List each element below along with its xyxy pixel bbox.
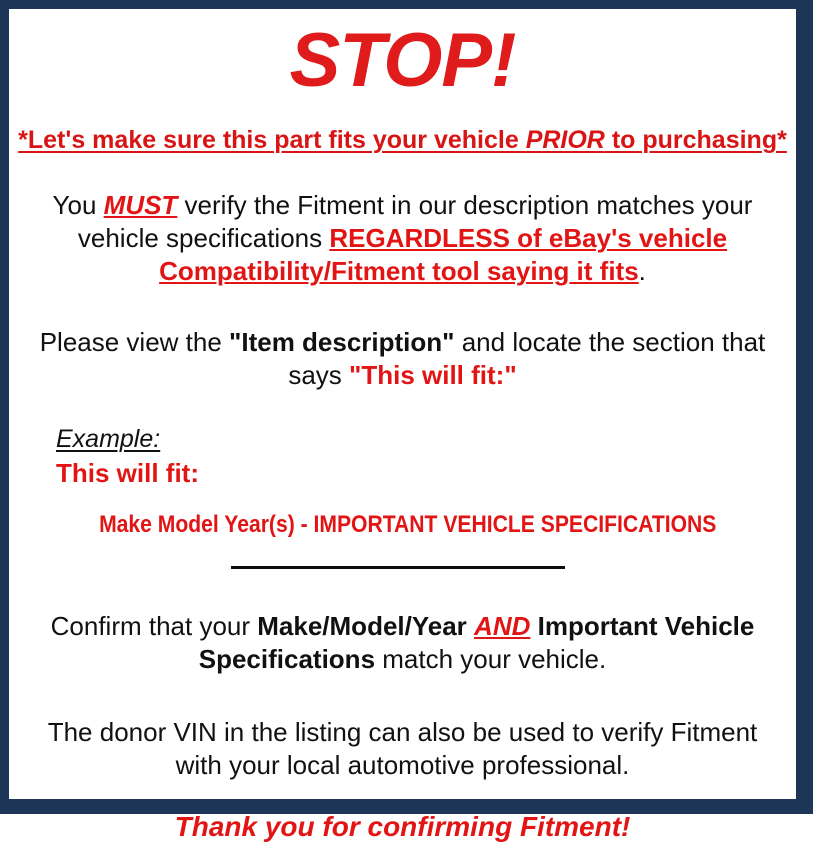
paragraph-confirm: Confirm that your Make/Model/Year AND Im… [18,610,787,676]
stop-headline: STOP! [18,9,787,99]
confirm-space-1 [467,611,474,641]
paragraph-donor-vin: The donor VIN in the listing can also be… [18,716,787,782]
confirm-text-2: match your vehicle. [375,644,606,674]
subtitle-text-part2: to purchasing* [605,126,787,154]
example-spec-text: Make Model Year(s) - IMPORTANT VEHICLE S… [99,512,716,538]
item-description-emphasis: "Item description" [229,327,454,357]
subtitle-banner: *Let's make sure this part fits your veh… [18,127,787,155]
view-text-1: Please view the [40,327,229,357]
this-will-fit-emphasis: "This will fit:" [349,360,517,390]
example-label-row: Example: [56,426,787,454]
subtitle-emphasis-prior: PRIOR [526,126,605,154]
must-emphasis: MUST [104,190,178,220]
example-block: Example: This will fit: Make Model Year(… [18,426,787,538]
paragraph-view-description: Please view the "Item description" and l… [18,326,787,392]
subtitle-text-part1: *Let's make sure this part fits your veh… [18,126,526,154]
must-text-1: You [53,190,104,220]
closing-thank-you: Thank you for confirming Fitment! [18,812,787,843]
and-emphasis: AND [474,611,530,641]
example-label: Example: [56,426,160,454]
confirm-text-1: Confirm that your [51,611,258,641]
example-spec-line: Make Model Year(s) - IMPORTANT VEHICLE S… [56,512,787,538]
make-model-year-emphasis: Make/Model/Year [257,611,467,641]
must-text-3: . [639,256,646,286]
example-fit-heading: This will fit: [56,457,787,490]
fitment-notice-card: STOP! *Let's make sure this part fits yo… [0,0,813,814]
notice-content-area: STOP! *Let's make sure this part fits yo… [9,9,796,799]
paragraph-must-verify: You MUST verify the Fitment in our descr… [18,189,787,288]
section-divider [231,566,565,569]
confirm-space-2 [530,611,537,641]
section-divider-wrap [18,562,787,576]
